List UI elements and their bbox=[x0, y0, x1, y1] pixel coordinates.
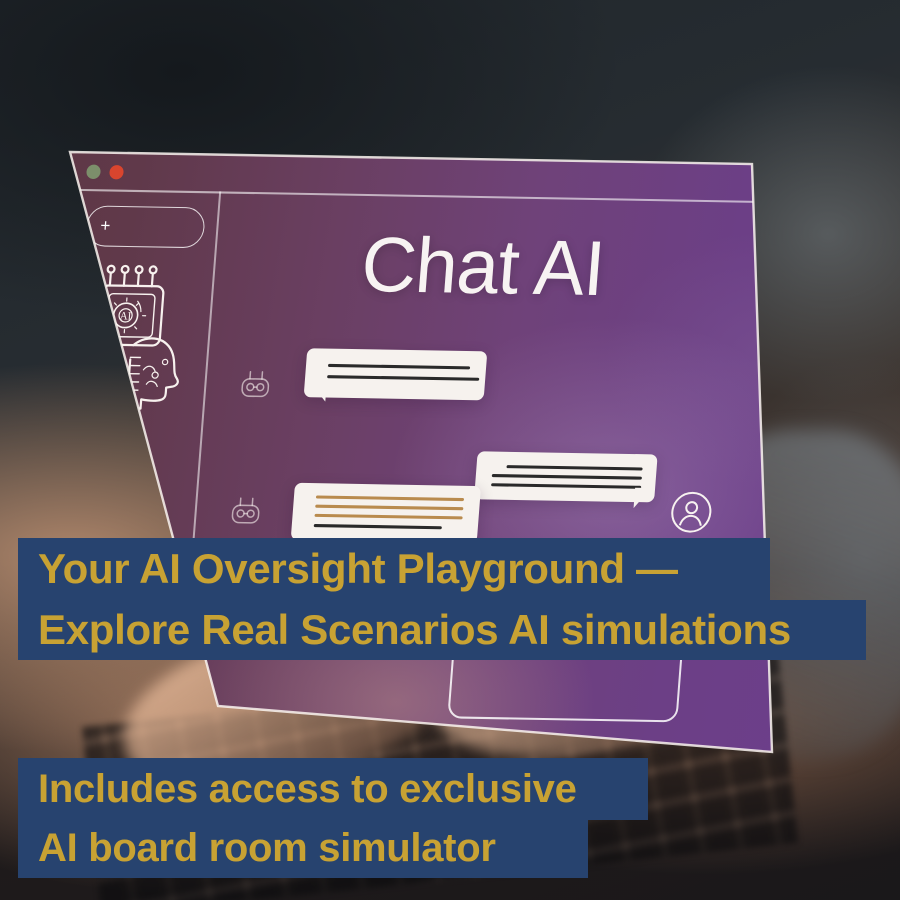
subline-band-line-2: AI board room simulator bbox=[18, 818, 588, 878]
minimize-dot[interactable] bbox=[86, 165, 101, 180]
close-dot[interactable] bbox=[109, 165, 124, 180]
message-bubble-bot-2 bbox=[291, 483, 481, 543]
new-chat-label: + bbox=[100, 216, 111, 236]
titlebar-divider bbox=[67, 189, 767, 203]
subline-2: AI board room simulator bbox=[38, 826, 496, 871]
window-controls[interactable] bbox=[86, 165, 124, 180]
svg-text:AI: AI bbox=[119, 310, 132, 322]
robot-icon bbox=[237, 367, 273, 400]
headline-band-line-1: Your AI Oversight Playground — bbox=[18, 538, 770, 600]
message-bubble-user-1 bbox=[474, 451, 658, 502]
subline-1: Includes access to exclusive bbox=[38, 767, 577, 812]
robot-icon bbox=[228, 494, 264, 527]
headline-line-2: Explore Real Scenarios AI simulations bbox=[38, 606, 791, 654]
user-icon bbox=[668, 489, 715, 535]
headline-band-line-2: Explore Real Scenarios AI simulations bbox=[18, 600, 866, 660]
message-bubble-bot-1 bbox=[304, 348, 488, 400]
page-title: Chat AI bbox=[358, 221, 607, 314]
subline-band-line-1: Includes access to exclusive bbox=[18, 758, 648, 820]
headline-line-1: Your AI Oversight Playground — bbox=[38, 545, 678, 593]
new-chat-button[interactable]: + bbox=[85, 205, 206, 248]
